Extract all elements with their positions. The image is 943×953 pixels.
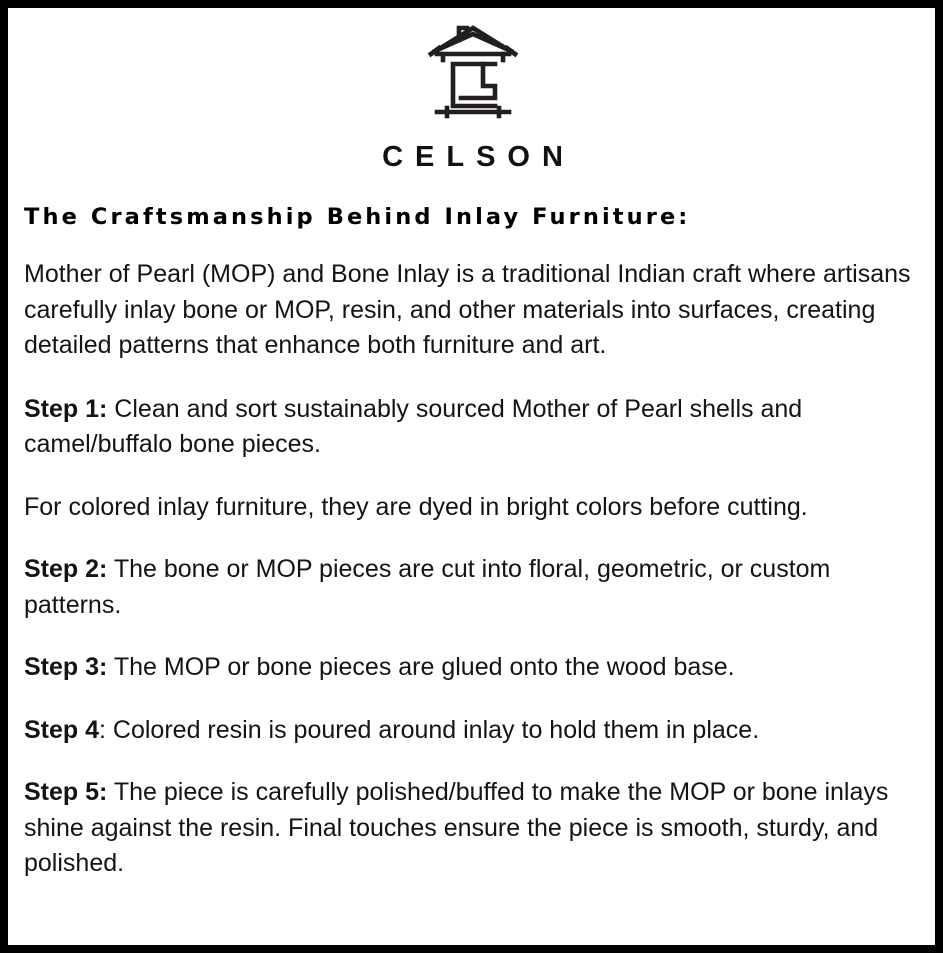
brand-wordmark: CELSON — [24, 143, 921, 172]
brand-header: CELSON — [24, 16, 921, 172]
step-text: The MOP or bone pieces are glued onto th… — [107, 653, 734, 681]
poster-inner: CELSON The Craftsmanship Behind Inlay Fu… — [8, 8, 935, 945]
step-label: Step 4 — [24, 716, 99, 744]
step-paragraph: For colored inlay furniture, they are dy… — [24, 490, 916, 526]
step-text: : Colored resin is poured around inlay t… — [99, 716, 759, 744]
step-paragraph: Step 3: The MOP or bone pieces are glued… — [24, 650, 916, 686]
step-paragraph: Step 4: Colored resin is poured around i… — [24, 713, 916, 749]
house-monogram-icon — [421, 20, 525, 120]
step-text: The piece is carefully polished/buffed t… — [24, 778, 888, 877]
step-paragraph: Step 2: The bone or MOP pieces are cut i… — [24, 552, 916, 623]
intro-paragraph: Mother of Pearl (MOP) and Bone Inlay is … — [24, 257, 916, 364]
article-body: Mother of Pearl (MOP) and Bone Inlay is … — [24, 257, 921, 882]
poster-card: CELSON The Craftsmanship Behind Inlay Fu… — [0, 0, 943, 953]
step-label: Step 2: — [24, 555, 107, 583]
step-text: Clean and sort sustainably sourced Mothe… — [24, 395, 802, 459]
step-label: Step 5: — [24, 778, 107, 806]
step-paragraph: Step 1: Clean and sort sustainably sourc… — [24, 392, 916, 463]
step-label: Step 3: — [24, 653, 107, 681]
step-paragraph: Step 5: The piece is carefully polished/… — [24, 775, 916, 882]
step-label: Step 1: — [24, 395, 107, 423]
step-text: The bone or MOP pieces are cut into flor… — [24, 555, 830, 619]
page-title: The Craftsmanship Behind Inlay Furniture… — [24, 204, 921, 231]
step-text: For colored inlay furniture, they are dy… — [24, 493, 808, 521]
